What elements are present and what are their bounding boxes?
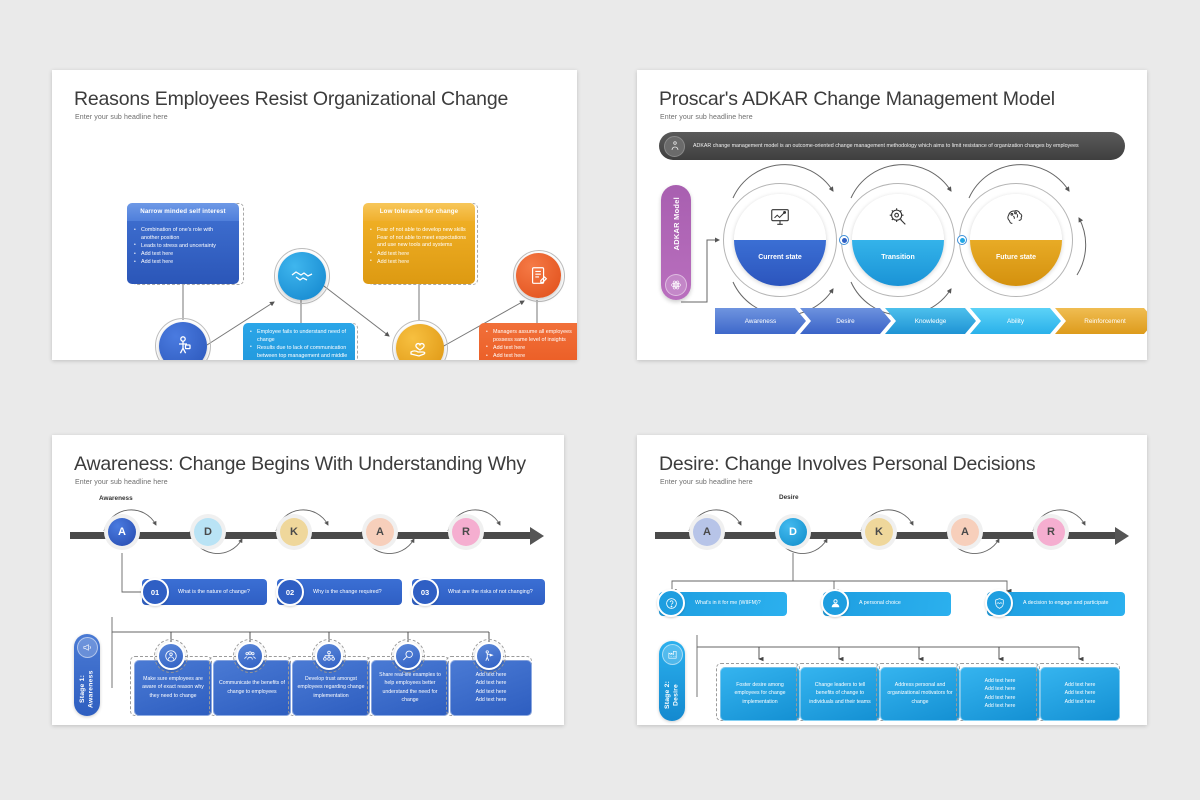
person-choice-icon	[821, 589, 849, 617]
state-transition[interactable]: Transition	[852, 194, 944, 286]
question-text: Why is the change required?	[313, 588, 388, 596]
card-2-body: Employee fails to understand need of cha…	[243, 323, 355, 360]
card-4-bullet: Managers assume all employees possess sa…	[485, 329, 577, 344]
person-target-icon[interactable]	[157, 642, 185, 670]
question-box-03[interactable]: 03 What are the risks of not changing?	[412, 579, 545, 605]
driver-text: What's in it for me (WIIFM)?	[695, 600, 767, 608]
card-1-bullet: Add text here	[133, 259, 232, 267]
card-1-body: Combination of one's role with another p…	[127, 221, 239, 284]
step-circle-r[interactable]: R	[448, 514, 484, 550]
tile-text: Address personal and organizational moti…	[885, 681, 955, 706]
active-step-label: Awareness	[99, 495, 133, 502]
question-number: 03	[411, 578, 439, 606]
card-1-bullet: Add text here	[133, 251, 232, 259]
step-letter: R	[1037, 518, 1065, 546]
page-title: Reasons Employees Resist Organizational …	[74, 88, 508, 111]
tile-text: Add text here Add text here Add text her…	[476, 671, 507, 704]
chevron-label: Desire	[836, 318, 854, 325]
connector-dot-1	[839, 235, 849, 245]
adkar-model-label: ADKAR Model	[672, 197, 681, 250]
timeline-arrowhead	[1115, 527, 1129, 545]
step-circle-d[interactable]: D	[775, 514, 811, 550]
page-subtitle: Enter your sub headline here	[660, 479, 753, 486]
step-circle-r[interactable]: R	[1033, 514, 1069, 550]
handshake-icon[interactable]	[278, 252, 326, 300]
step-letter: K	[865, 518, 893, 546]
tile-text: Foster desire among employees for change…	[725, 681, 795, 706]
step-circle-k[interactable]: K	[276, 514, 312, 550]
chevron-label: Ability	[1007, 318, 1024, 325]
person-flag-icon[interactable]	[475, 642, 503, 670]
question-text: What are the risks of not changing?	[448, 588, 539, 596]
factory-people-icon	[662, 644, 683, 665]
atom-icon	[665, 274, 687, 296]
slide-desire[interactable]: Desire: Change Involves Personal Decisio…	[637, 435, 1147, 725]
tile-text: Change leaders to tell benefits of chang…	[805, 681, 875, 706]
card-3-header: Low tolerance for change	[363, 203, 475, 221]
stage-pill-desire[interactable]: Stage 2: Desire	[659, 641, 685, 721]
tile-text: Make sure employees are aware of exact r…	[139, 675, 207, 700]
info-banner-text: ADKAR change management model is an outc…	[693, 142, 1089, 150]
step-circle-a-1[interactable]: A	[104, 514, 140, 550]
question-box-01[interactable]: 01 What is the nature of change?	[142, 579, 267, 605]
active-step-label: Desire	[779, 494, 799, 501]
d-tile-add-text-1[interactable]: Add text here Add text here Add text her…	[960, 667, 1040, 721]
page-subtitle: Enter your sub headline here	[660, 114, 753, 121]
question-number: 02	[276, 578, 304, 606]
megaphone-icon	[77, 637, 98, 658]
driver-text: A decision to engage and participate	[1023, 600, 1114, 608]
step-circle-a-2[interactable]: A	[947, 514, 983, 550]
card-4-bullet: Add text here	[485, 353, 577, 360]
page-title: Desire: Change Involves Personal Decisio…	[659, 453, 1035, 476]
card-3-bullet: Add text here	[369, 259, 468, 267]
stage-label: Stage 1: Awareness	[79, 662, 96, 716]
org-chart-icon[interactable]	[315, 642, 343, 670]
card-1-bullet: Combination of one's role with another p…	[133, 227, 232, 242]
tile-text: Develop trust amongst employees regardin…	[297, 675, 365, 700]
d-tile-add-text-2[interactable]: Add text here Add text here Add text her…	[1040, 667, 1120, 721]
person-gear-icon	[664, 136, 685, 157]
step-circle-d[interactable]: D	[190, 514, 226, 550]
step-letter: D	[779, 518, 807, 546]
step-letter: D	[194, 518, 222, 546]
tile-text: Share real-life examples to help employe…	[376, 671, 444, 704]
chevron-label: Reinforcement	[1084, 318, 1126, 325]
checklist-edit-icon[interactable]	[516, 253, 561, 298]
chevron-reinforcement[interactable]: Reinforcement	[1055, 308, 1147, 334]
page-subtitle: Enter your sub headline here	[75, 114, 168, 121]
question-number: 01	[141, 578, 169, 606]
step-letter: R	[452, 518, 480, 546]
slide-awareness[interactable]: Awareness: Change Begins With Understand…	[52, 435, 564, 725]
card-narrow-minded-self-interest[interactable]: Narrow minded self interest Combination …	[127, 203, 239, 284]
d-tile-address-motivators[interactable]: Address personal and organizational moti…	[880, 667, 960, 721]
connector-dot-2	[957, 235, 967, 245]
question-person-icon	[657, 589, 685, 617]
page-title: Proscar's ADKAR Change Management Model	[659, 88, 1055, 111]
chevron-label: Awareness	[745, 318, 777, 325]
driver-box-engage-participate[interactable]: A decision to engage and participate	[987, 592, 1125, 616]
stage-label: Stage 2: Desire	[664, 669, 681, 721]
driver-box-personal-choice[interactable]: A personal choice	[823, 592, 951, 616]
magnifier-icon[interactable]	[394, 642, 422, 670]
team-group-icon[interactable]	[236, 642, 264, 670]
stage-pill-awareness[interactable]: Stage 1: Awareness	[74, 634, 100, 716]
chevron-awareness[interactable]: Awareness	[715, 308, 806, 334]
chevron-ability[interactable]: Ability	[970, 308, 1061, 334]
card-3-bullet: Fear of not able to develop new skills F…	[369, 227, 468, 250]
step-circle-a-2[interactable]: A	[362, 514, 398, 550]
card-4-body: Managers assume all employees possess sa…	[479, 323, 577, 360]
card-3-bullet: Add text here	[369, 251, 468, 259]
timeline-arrowhead	[530, 527, 544, 545]
card-4-bullet: Add text here	[485, 345, 577, 353]
state-future-state[interactable]: Future state	[970, 194, 1062, 286]
question-box-02[interactable]: 02 Why is the change required?	[277, 579, 402, 605]
chevron-desire[interactable]: Desire	[800, 308, 891, 334]
question-text: What is the nature of change?	[178, 588, 256, 596]
state-current-state[interactable]: Current state	[734, 194, 826, 286]
d-tile-foster-desire[interactable]: Foster desire among employees for change…	[720, 667, 800, 721]
slide-reasons-employees-resist[interactable]: Reasons Employees Resist Organizational …	[52, 70, 577, 360]
driver-box-wiifm[interactable]: What's in it for me (WIIFM)?	[659, 592, 787, 616]
tile-text: Communicate the benefits of change to em…	[218, 679, 286, 695]
card-1-bullet: Leads to stress and uncertainty	[133, 243, 232, 251]
step-circle-a-1[interactable]: A	[689, 514, 725, 550]
step-letter: K	[280, 518, 308, 546]
step-letter: A	[693, 518, 721, 546]
slide-adkar-change-management-model[interactable]: Proscar's ADKAR Change Management Model …	[637, 70, 1147, 360]
step-letter: A	[108, 518, 136, 546]
adkar-model-pill[interactable]: ADKAR Model	[661, 185, 691, 300]
card-2-bullet: Employee fails to understand need of cha…	[249, 329, 348, 344]
card-low-tolerance-for-change[interactable]: Low tolerance for change Fear of not abl…	[363, 203, 475, 284]
page-subtitle: Enter your sub headline here	[75, 479, 168, 486]
handshake-shield-icon	[985, 589, 1013, 617]
info-banner: ADKAR change management model is an outc…	[659, 132, 1125, 160]
card-different-assessment-of-situation[interactable]: Managers assume all employees possess sa…	[479, 323, 577, 360]
step-circle-k[interactable]: K	[861, 514, 897, 550]
tile-text: Add text here Add text here Add text her…	[1065, 681, 1096, 706]
d-tile-change-leaders[interactable]: Change leaders to tell benefits of chang…	[800, 667, 880, 721]
card-2-bullet: Results due to lack of communication bet…	[249, 345, 348, 360]
driver-text: A personal choice	[859, 600, 907, 608]
step-letter: A	[366, 518, 394, 546]
chevron-label: Knowledge	[915, 318, 947, 325]
chevron-knowledge[interactable]: Knowledge	[885, 308, 976, 334]
page-title: Awareness: Change Begins With Understand…	[74, 453, 526, 476]
tile-text: Add text here Add text here Add text her…	[985, 677, 1016, 710]
card-lack-of-trust[interactable]: Employee fails to understand need of cha…	[243, 323, 355, 360]
step-letter: A	[951, 518, 979, 546]
card-1-header: Narrow minded self interest	[127, 203, 239, 221]
card-3-body: Fear of not able to develop new skills F…	[363, 221, 475, 284]
